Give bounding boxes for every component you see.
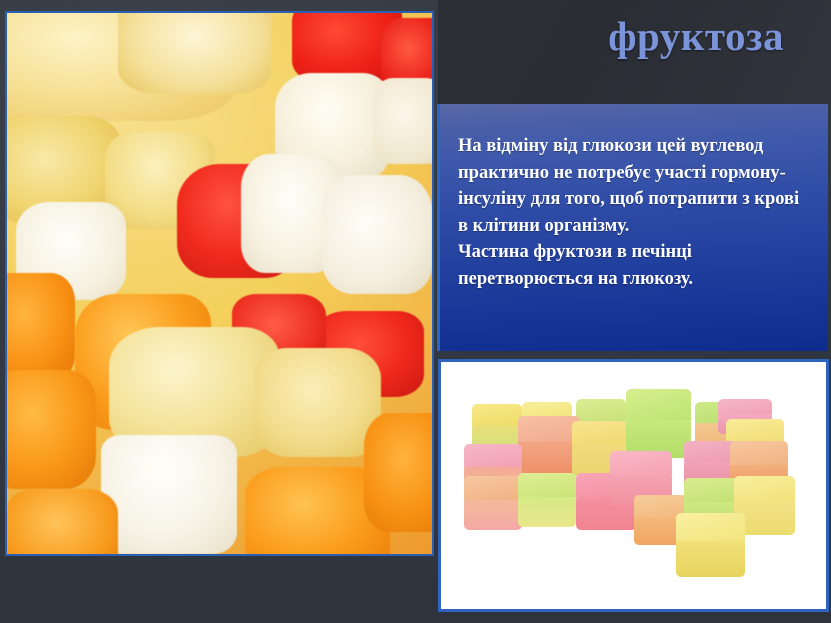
sugar-cubes-photo [438, 359, 829, 612]
fruit-salad-artwork [7, 13, 432, 554]
sugar-cubes-artwork [441, 362, 826, 609]
page-title: фруктоза [438, 16, 784, 57]
description-paragraph-2: Частина фруктози в печінці перетворюєтьс… [458, 239, 810, 292]
description-paragraph-1: На відміну від глюкози цей вуглевод прак… [458, 133, 810, 239]
slide-canvas: фруктоза На відміну від глюкози цей вугл… [0, 0, 831, 623]
description-text: На відміну від глюкози цей вуглевод прак… [458, 133, 810, 292]
description-panel: На відміну від глюкози цей вуглевод прак… [437, 104, 828, 351]
fruit-salad-photo [5, 11, 434, 556]
